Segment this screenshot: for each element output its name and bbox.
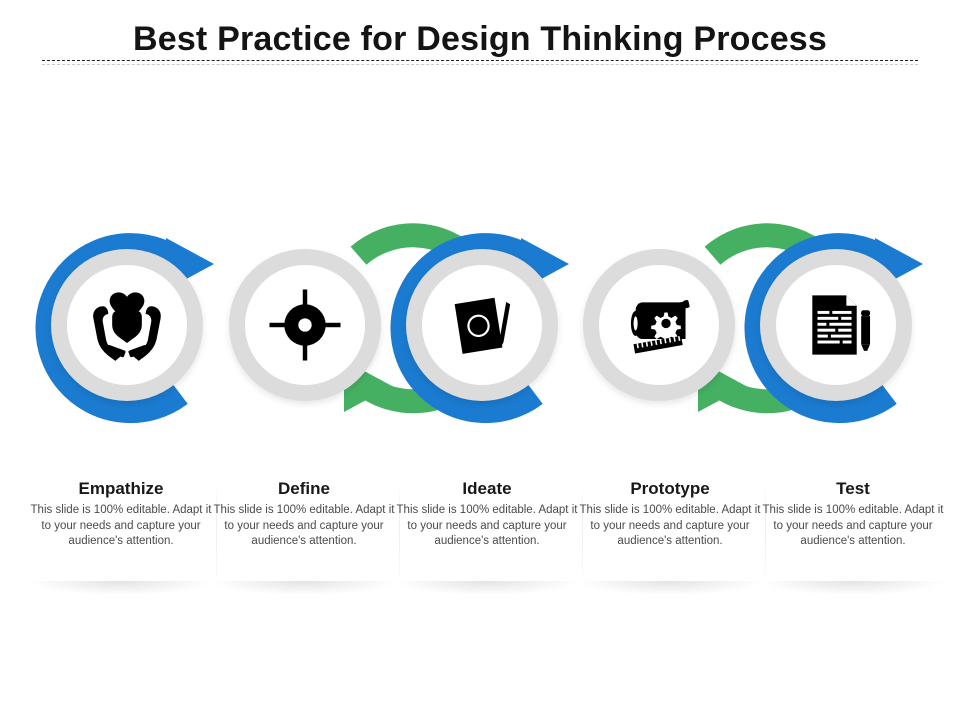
caption-test: Test This slide is 100% editable. Adapt …	[762, 478, 944, 550]
caption-shadow	[30, 581, 212, 595]
caption-shadow	[213, 581, 395, 595]
caption-heading: Ideate	[396, 478, 578, 499]
process-stage-test[interactable]	[733, 222, 939, 428]
process-stage-define[interactable]	[202, 222, 408, 428]
title-divider	[42, 60, 918, 66]
caption-body: This slide is 100% editable. Adapt it to…	[396, 503, 578, 550]
caption-body: This slide is 100% editable. Adapt it to…	[579, 503, 761, 550]
caption-define: Define This slide is 100% editable. Adap…	[213, 478, 395, 550]
captions-row: Empathize This slide is 100% editable. A…	[0, 478, 960, 588]
title-divider-upper-line	[42, 60, 918, 61]
title-divider-lower-line	[42, 64, 918, 65]
caption-body: This slide is 100% editable. Adapt it to…	[213, 503, 395, 550]
caption-ideate: Ideate This slide is 100% editable. Adap…	[396, 478, 578, 550]
page-title-block: Best Practice for Design Thinking Proces…	[0, 18, 960, 60]
process-stage-ideate[interactable]	[379, 222, 585, 428]
page-title: Best Practice for Design Thinking Proces…	[0, 18, 960, 60]
process-graphic-row	[0, 222, 960, 428]
caption-shadow	[762, 581, 944, 595]
caption-prototype: Prototype This slide is 100% editable. A…	[579, 478, 761, 550]
blueprint-gear-ruler-icon	[609, 275, 709, 375]
caption-body: This slide is 100% editable. Adapt it to…	[762, 503, 944, 550]
caption-heading: Prototype	[579, 478, 761, 499]
caption-shadow	[396, 581, 578, 595]
caption-empathize: Empathize This slide is 100% editable. A…	[30, 478, 212, 550]
target-crosshair-icon	[255, 275, 355, 375]
process-stage-prototype[interactable]	[556, 222, 762, 428]
process-stage-empathize[interactable]	[24, 222, 230, 428]
caption-shadow	[579, 581, 761, 595]
hands-holding-heart-icon	[77, 275, 177, 375]
caption-heading: Define	[213, 478, 395, 499]
caption-heading: Test	[762, 478, 944, 499]
caption-body: This slide is 100% editable. Adapt it to…	[30, 503, 212, 550]
sketchbook-pen-icon	[432, 275, 532, 375]
document-pencil-icon	[786, 275, 886, 375]
slide-canvas: Best Practice for Design Thinking Proces…	[0, 0, 960, 720]
caption-heading: Empathize	[30, 478, 212, 499]
